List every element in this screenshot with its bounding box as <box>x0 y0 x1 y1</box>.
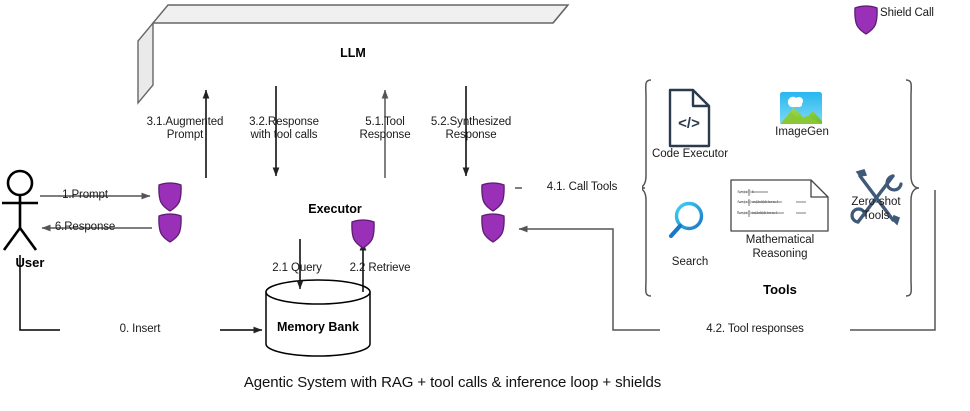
tool-label-search: Search <box>652 256 728 270</box>
shield-icon-executor-memory <box>352 220 374 248</box>
shield-icon-executor-out-1 <box>482 183 504 211</box>
svg-text:Bₙ= ∫ x(t)sin(2πft)dt for n≥: Bₙ= ∫ x(t)sin(2πft)dt for n≥1 <box>737 211 778 215</box>
tool-label-imagegen: ImageGen <box>761 126 843 140</box>
edge-label-tool-response: 5.1.Tool Response <box>341 116 429 142</box>
shield-icon-legend <box>855 6 877 34</box>
formula-document-icon: A₀= ∫ x(t)dt Aₙ= ∫ x(t)cos(2πft)dt for n… <box>731 180 828 231</box>
svg-text:</>: </> <box>678 115 700 132</box>
user-title: User <box>0 255 60 270</box>
svg-text:Aₙ= ∫ x(t)cos(2πft)dt for n≥: Aₙ= ∫ x(t)cos(2πft)dt for n≥1 <box>737 200 779 204</box>
edge-label-response: 6.Response <box>26 221 144 234</box>
tool-label-code-executor: Code Executor <box>641 148 739 162</box>
edge-label-tool-responses: 4.2. Tool responses <box>660 323 850 336</box>
edge-label-retrieve: 2.2 Retrieve <box>330 262 430 275</box>
tools-group-title: Tools <box>720 282 840 297</box>
memory-bank-cylinder <box>266 280 370 356</box>
edge-label-prompt: 1.Prompt <box>26 189 144 202</box>
shield-icon-executor-in-1 <box>159 183 181 211</box>
edge-label-augmented-prompt: 3.1.Augmented Prompt <box>139 116 231 142</box>
shield-icon-executor-in-2 <box>159 214 181 242</box>
edge-label-response-tool-calls: 3.2.Response with tool calls <box>232 116 336 142</box>
diagram-vector-layer: </> A₀= ∫ x(t)dt A <box>0 0 970 411</box>
executor-title: Executor <box>260 202 410 216</box>
llm-title: LLM <box>153 46 553 60</box>
tool-label-zero-shot-tools: Zero-shot Tools <box>838 196 914 223</box>
magnifier-icon <box>671 204 702 237</box>
code-document-icon: </> <box>670 90 709 146</box>
image-picture-icon <box>780 92 822 124</box>
diagram-canvas: </> A₀= ∫ x(t)dt A <box>0 0 970 411</box>
shield-icon-executor-out-2 <box>482 214 504 242</box>
edge-label-query: 2.1 Query <box>252 262 342 275</box>
tool-label-math-reasoning: Mathematical Reasoning <box>730 234 830 261</box>
legend-shield-label: Shield Call <box>880 7 970 20</box>
edge-label-synthesized-response: 5.2.Synthesized Response <box>421 116 521 142</box>
edge-label-call-tools: 4.1. Call Tools <box>522 181 642 194</box>
memory-bank-title: Memory Bank <box>258 320 378 334</box>
user-stick-figure <box>2 171 38 250</box>
edge-label-insert: 0. Insert <box>60 323 220 336</box>
svg-text:A₀= ∫ x(t)dt: A₀= ∫ x(t)dt <box>737 190 754 194</box>
diagram-caption: Agentic System with RAG + tool calls & i… <box>0 376 905 389</box>
